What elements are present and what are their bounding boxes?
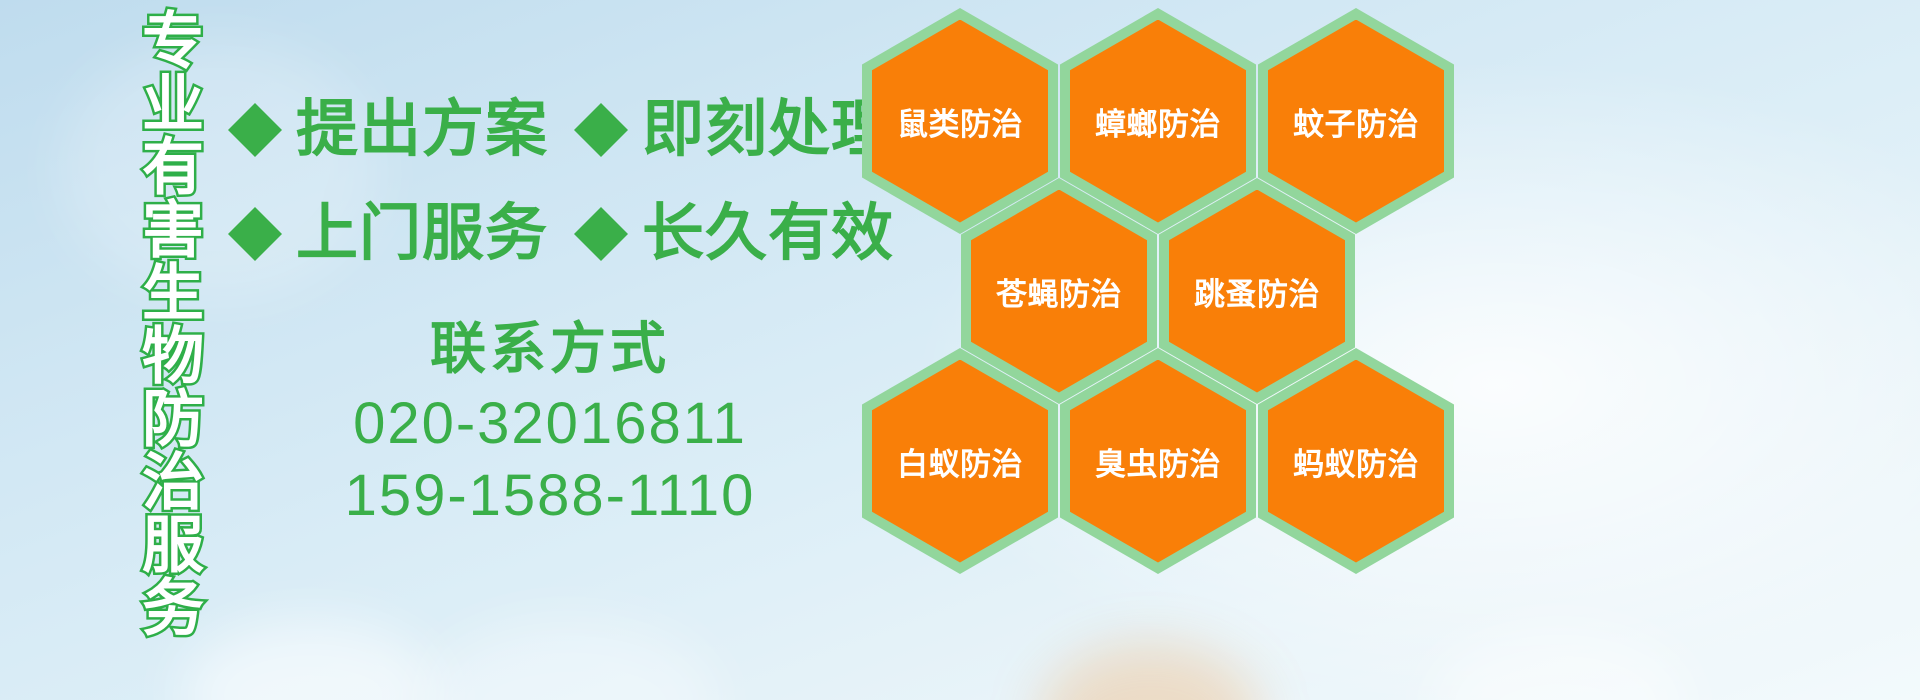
- feature-row: 提出方案 即刻处理: [228, 78, 868, 182]
- service-label: 白蚁防治: [897, 439, 1023, 484]
- contact-block: 联系方式 020-32016811 159-1588-1110: [300, 318, 800, 533]
- feature-item: 提出方案: [228, 99, 548, 161]
- feature-row: 上门服务 长久有效: [228, 182, 868, 286]
- contact-title: 联系方式: [300, 318, 800, 380]
- vertical-headline: 专业有害生物防治服务: [104, 8, 196, 568]
- hexagon-inner: 苍蝇防治: [971, 190, 1147, 393]
- feature-label: 长久有效: [642, 203, 894, 265]
- pest-control-banner: 专业有害生物防治服务 提出方案 即刻处理 上门服务 长久有效 联系方式: [0, 0, 1920, 700]
- hexagon-inner: 臭虫防治: [1070, 360, 1246, 563]
- service-label: 蟑螂防治: [1095, 99, 1221, 144]
- diamond-icon: [574, 180, 628, 234]
- hexagon-inner: 白蚁防治: [872, 360, 1048, 563]
- background-bokeh-blob: [1040, 645, 1260, 700]
- service-label: 苍蝇防治: [996, 269, 1122, 314]
- service-label: 跳蚤防治: [1194, 269, 1320, 314]
- feature-list: 提出方案 即刻处理 上门服务 长久有效: [228, 78, 868, 286]
- hexagon-inner: 蟑螂防治: [1070, 20, 1246, 223]
- background-bokeh-blob: [180, 620, 440, 700]
- contact-phone-landline[interactable]: 020-32016811: [300, 388, 800, 461]
- background-bokeh-blob: [420, 620, 720, 700]
- feature-item: 上门服务: [228, 203, 548, 265]
- service-hexagon-cluster: 鼠类防治 蟑螂防治 蚊子防治 苍蝇防治 跳蚤防治 白蚁防治: [862, 0, 1462, 560]
- contact-phone-mobile[interactable]: 159-1588-1110: [300, 460, 800, 533]
- feature-label: 即刻处理: [642, 99, 894, 161]
- background-bokeh-blob: [1430, 630, 1690, 700]
- diamond-icon: [574, 76, 628, 130]
- diamond-icon: [228, 180, 282, 234]
- service-label: 蚊子防治: [1293, 99, 1419, 144]
- hexagon-inner: 跳蚤防治: [1169, 190, 1345, 393]
- hexagon-inner: 蚊子防治: [1268, 20, 1444, 223]
- feature-label: 上门服务: [296, 203, 548, 265]
- feature-label: 提出方案: [296, 99, 548, 161]
- feature-item: 长久有效: [574, 203, 894, 265]
- service-label: 臭虫防治: [1095, 439, 1221, 484]
- hexagon-inner: 鼠类防治: [872, 20, 1048, 223]
- hexagon-inner: 蚂蚁防治: [1268, 360, 1444, 563]
- feature-item: 即刻处理: [574, 99, 894, 161]
- service-label: 鼠类防治: [897, 99, 1023, 144]
- service-label: 蚂蚁防治: [1293, 439, 1419, 484]
- diamond-icon: [228, 76, 282, 130]
